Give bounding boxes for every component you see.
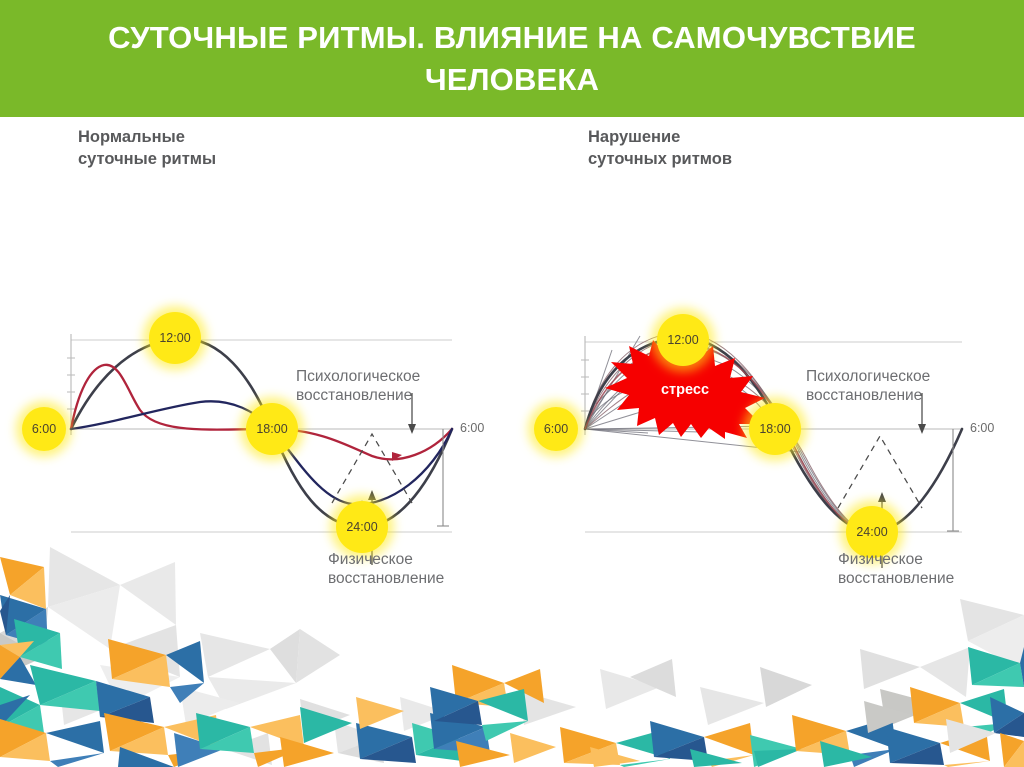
phys-arrow-head [878, 492, 886, 502]
edge-time-6-00-right: 6:00 [970, 421, 994, 435]
time-marker-18-00-right[interactable]: 18:00 [749, 403, 801, 455]
slide-root: СУТОЧНЫЕ РИТМЫ. ВЛИЯНИЕ НА САМОЧУВСТВИЕ … [0, 0, 1024, 767]
triangle-mosaic-border [0, 537, 1024, 767]
time-marker-6-00-right[interactable]: 6:00 [534, 407, 578, 451]
time-marker-12-00-right[interactable]: 12:00 [657, 314, 709, 366]
label-psychological-recovery-right: Психологическое восстановление [806, 368, 930, 405]
